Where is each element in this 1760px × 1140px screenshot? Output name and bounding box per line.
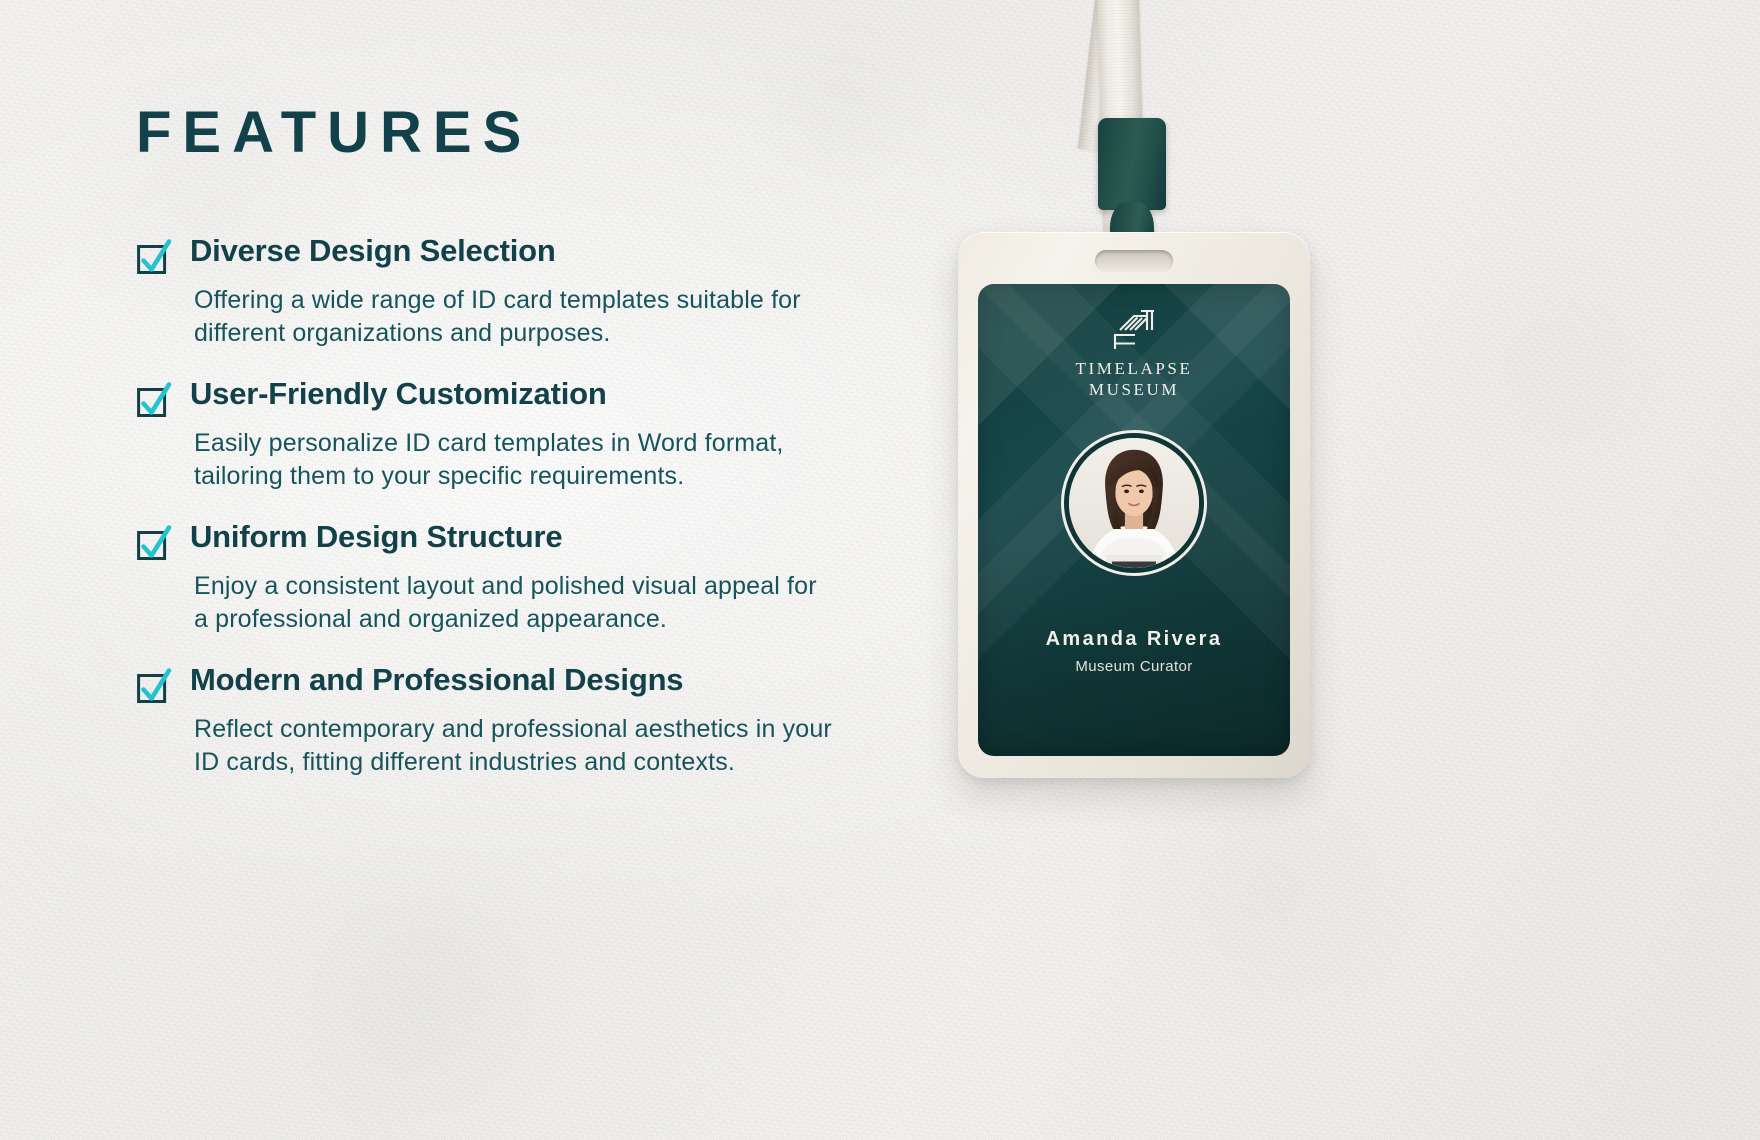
id-badge-mockup: TIMELAPSE MUSEUM: [930, 0, 1350, 820]
card-holder-slot-icon: [1095, 250, 1173, 272]
feature-title: Modern and Professional Designs: [190, 663, 683, 698]
card-holder-name: Amanda Rivera: [1046, 628, 1223, 651]
checkbox-checked-icon: [136, 665, 172, 705]
card-brand-line-1: TIMELAPSE: [1076, 359, 1193, 378]
feature-description: Reflect contemporary and professional ae…: [194, 713, 834, 778]
card-holder: TIMELAPSE MUSEUM: [958, 232, 1310, 778]
portrait-photo-icon: [1069, 438, 1199, 568]
lanyard-clip-icon: [1098, 118, 1166, 210]
page-title: FEATURES: [136, 104, 876, 162]
id-card-content: TIMELAPSE MUSEUM: [978, 284, 1290, 756]
checkbox-checked-icon: [136, 236, 172, 276]
feature-item: Modern and Professional Designs Reflect …: [136, 663, 876, 778]
checkbox-checked-icon: [136, 522, 172, 562]
feature-heading-row: Diverse Design Selection: [136, 234, 876, 276]
timelapse-museum-logo-icon: [1111, 308, 1157, 350]
feature-item: Diverse Design Selection Offering a wide…: [136, 234, 876, 349]
feature-heading-row: Uniform Design Structure: [136, 520, 876, 562]
checkbox-checked-icon: [136, 379, 172, 419]
slide-canvas: FEATURES Diverse Design Selection Offeri…: [0, 0, 1760, 1140]
card-brand-name: TIMELAPSE MUSEUM: [1076, 358, 1193, 400]
feature-item: User-Friendly Customization Easily perso…: [136, 377, 876, 492]
card-holder-role: Museum Curator: [1075, 658, 1192, 675]
feature-title: Diverse Design Selection: [190, 234, 556, 269]
feature-heading-row: User-Friendly Customization: [136, 377, 876, 419]
card-brand-line-2: MUSEUM: [1076, 379, 1193, 400]
features-panel: FEATURES Diverse Design Selection Offeri…: [136, 104, 876, 806]
feature-description: Easily personalize ID card templates in …: [194, 427, 834, 492]
id-card: TIMELAPSE MUSEUM: [978, 284, 1290, 756]
avatar: [1061, 430, 1207, 576]
feature-description: Offering a wide range of ID card templat…: [194, 284, 834, 349]
feature-heading-row: Modern and Professional Designs: [136, 663, 876, 705]
feature-description: Enjoy a consistent layout and polished v…: [194, 570, 834, 635]
feature-title: User-Friendly Customization: [190, 377, 607, 412]
feature-title: Uniform Design Structure: [190, 520, 562, 555]
feature-item: Uniform Design Structure Enjoy a consist…: [136, 520, 876, 635]
